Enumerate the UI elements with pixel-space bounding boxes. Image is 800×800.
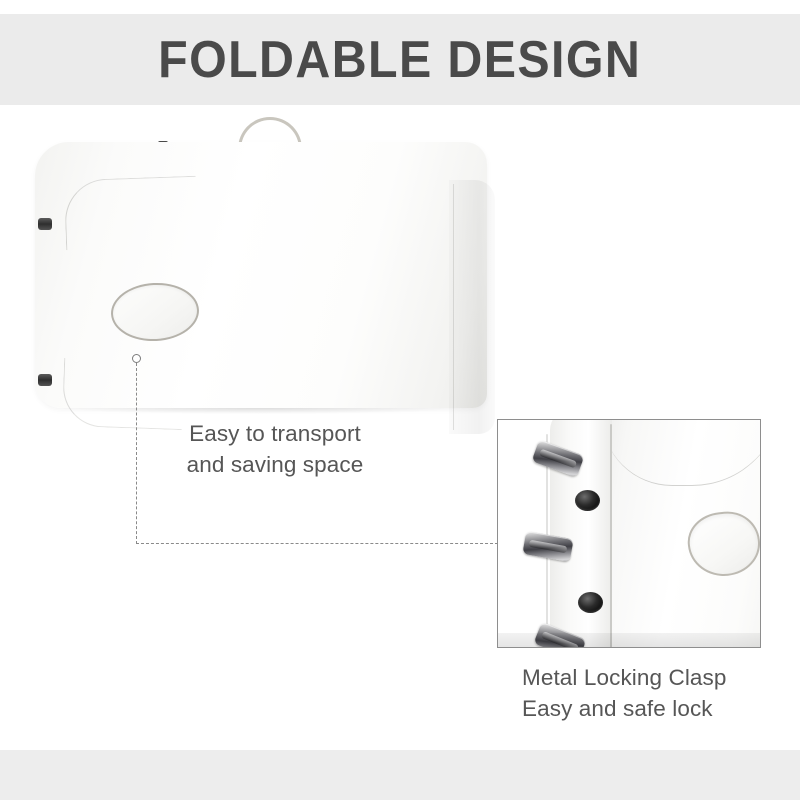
inset-caption-line-2: Easy and safe lock: [522, 693, 792, 724]
folded-case-body: [35, 142, 487, 408]
inset-caption-block: Metal Locking Clasp Easy and safe lock: [522, 662, 792, 724]
case-seam-top-left: [64, 176, 198, 251]
oval-cutout-handle: [110, 281, 201, 344]
inset-floor-shadow: [498, 633, 761, 647]
callout-line-1: Easy to transport: [110, 418, 440, 449]
header-banner: FOLDABLE DESIGN: [0, 14, 800, 105]
left-clasp-upper: [38, 218, 52, 230]
case-fold-line: [453, 184, 454, 430]
grommet-lower: [578, 592, 603, 613]
case-fold-right-edge: [449, 180, 495, 434]
inset-photo-frame: [497, 419, 761, 648]
callout-dot-marker: [132, 354, 141, 363]
page-title: FOLDABLE DESIGN: [158, 34, 641, 86]
left-clasp-lower: [38, 374, 52, 386]
footer-banner: [0, 750, 800, 800]
inset-caption-line-1: Metal Locking Clasp: [522, 662, 792, 693]
callout-text-block: Easy to transport and saving space: [110, 418, 440, 480]
inset-closeup-photo: [498, 420, 760, 647]
callout-line-2: and saving space: [110, 449, 440, 480]
hero-product-photo: [30, 112, 492, 412]
callout-leader-horizontal: [136, 543, 498, 544]
inset-wall-edge-right: [610, 424, 612, 648]
grommet-upper: [575, 490, 600, 511]
